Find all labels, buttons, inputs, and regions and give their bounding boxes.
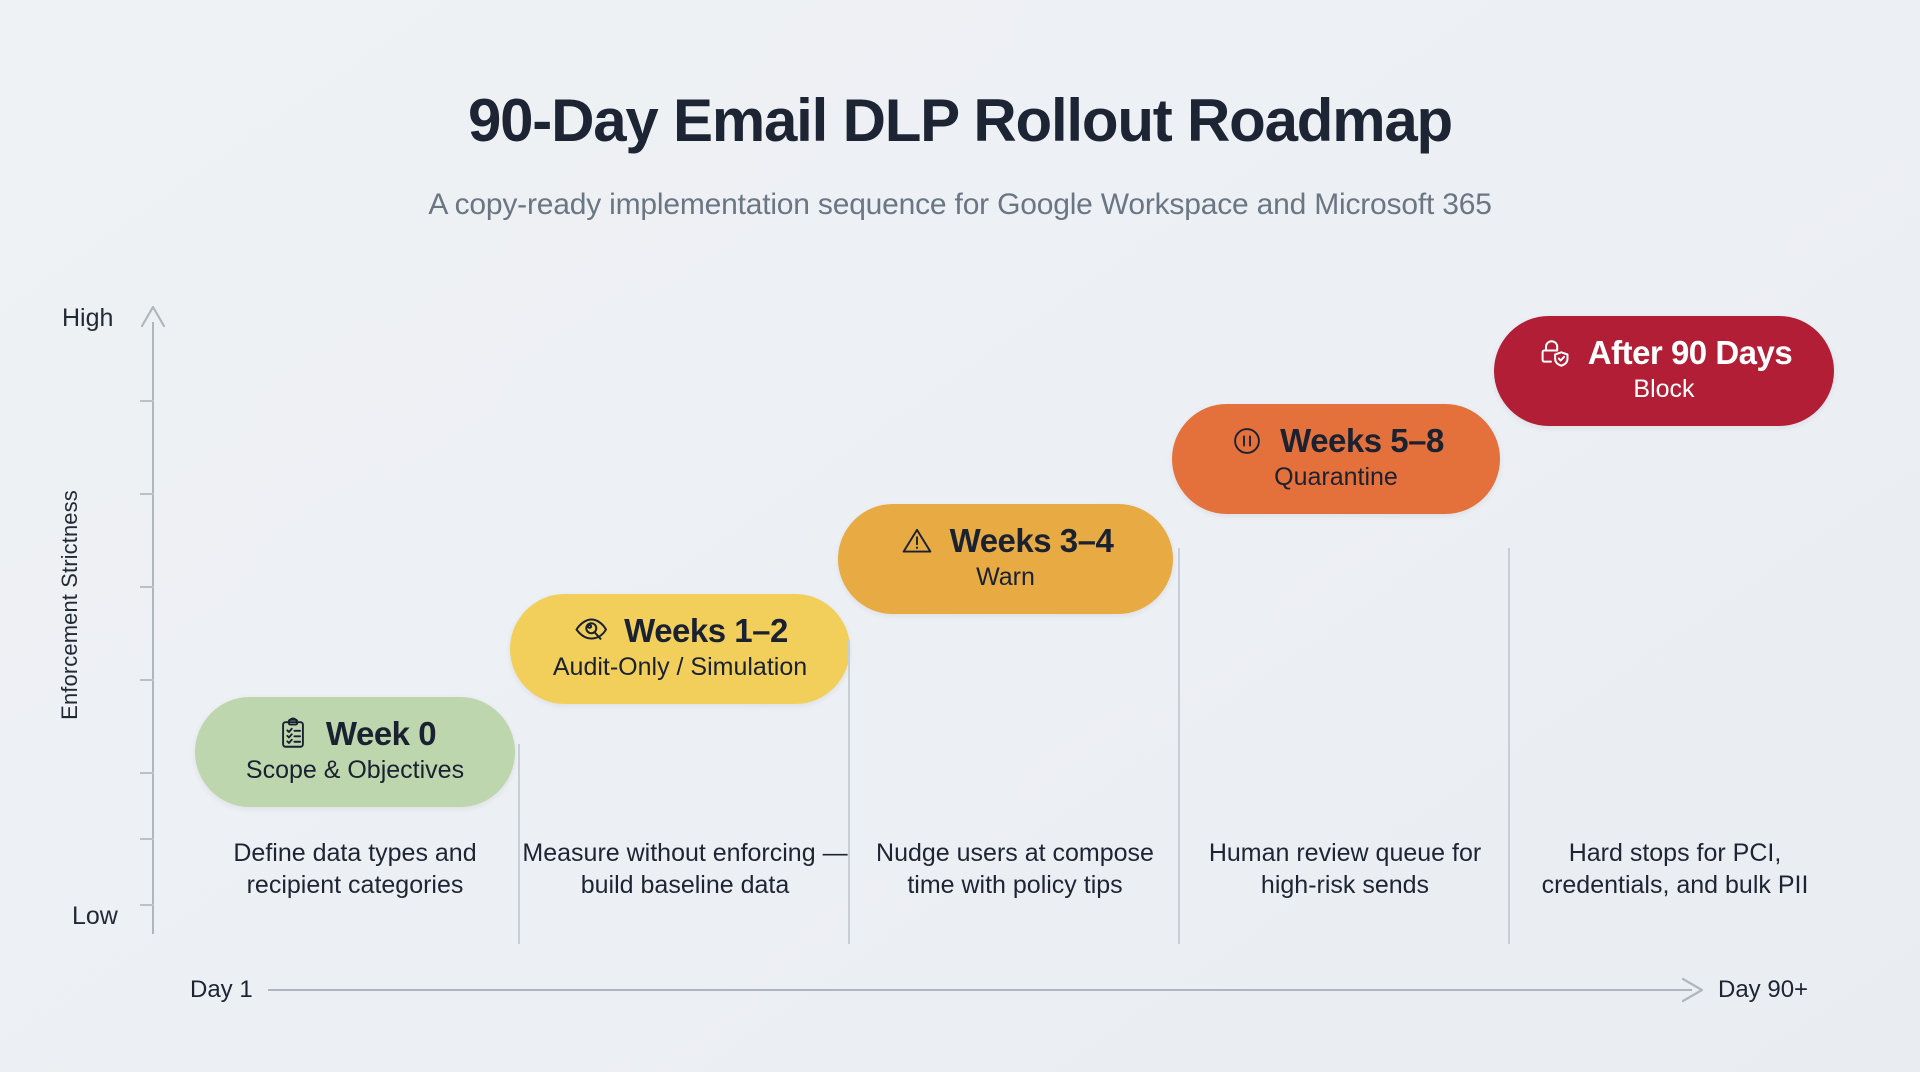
stage-caption-week-0: Define data types and recipient categori… [190, 838, 520, 902]
stage-column-after-90-days: After 90 Days Block Hard stops for PCI, … [1510, 0, 1840, 1072]
clipboard-checklist-icon [274, 715, 312, 753]
y-axis-low-label: Low [72, 902, 118, 931]
stage-caption-weeks-5-8: Human review queue for high-risk sends [1180, 838, 1510, 902]
stage-title: Weeks 5–8 [1280, 422, 1444, 460]
stage-pill-after-90-days[interactable]: After 90 Days Block [1494, 316, 1834, 426]
stage-pill-week-0[interactable]: Week 0 Scope & Objectives [195, 697, 515, 807]
lock-shield-check-icon [1536, 334, 1574, 372]
stage-subtitle: Block [1633, 375, 1694, 404]
pause-circle-icon [1228, 422, 1266, 460]
stage-pill-heading: Weeks 5–8 [1228, 422, 1444, 460]
y-axis-tick [140, 679, 154, 681]
stage-caption-weeks-1-2: Measure without enforcing — build baseli… [520, 838, 850, 902]
stage-pill-heading: Weeks 3–4 [898, 522, 1114, 560]
eye-search-icon [572, 612, 610, 650]
y-axis-arrow-icon [140, 306, 166, 328]
stage-column-weeks-3-4: Weeks 3–4 Warn Nudge users at compose ti… [850, 0, 1180, 1072]
y-axis-line [152, 322, 154, 934]
stage-pill-heading: Weeks 1–2 [572, 612, 788, 650]
stage-pill-weeks-3-4[interactable]: Weeks 3–4 Warn [838, 504, 1173, 614]
stage-title: Weeks 3–4 [950, 522, 1114, 560]
y-axis-tick [140, 838, 154, 840]
stage-caption-weeks-3-4: Nudge users at compose time with policy … [850, 838, 1180, 902]
stage-pill-heading: After 90 Days [1536, 334, 1792, 372]
stage-title: Weeks 1–2 [624, 612, 788, 650]
y-axis-tick [140, 493, 154, 495]
stage-pill-heading: Week 0 [274, 715, 436, 753]
stage-subtitle: Warn [976, 563, 1035, 592]
stage-subtitle: Scope & Objectives [246, 756, 464, 785]
stage-caption-after-90-days: Hard stops for PCI, credentials, and bul… [1510, 838, 1840, 902]
y-axis-high-label: High [62, 304, 113, 333]
y-axis-tick [140, 772, 154, 774]
stage-column-weeks-5-8: Weeks 5–8 Quarantine Human review queue … [1180, 0, 1510, 1072]
stage-pill-weeks-5-8[interactable]: Weeks 5–8 Quarantine [1172, 404, 1500, 514]
stage-subtitle: Quarantine [1274, 463, 1398, 492]
roadmap-infographic: 90-Day Email DLP Rollout Roadmap A copy-… [0, 0, 1920, 1072]
stage-subtitle: Audit-Only / Simulation [553, 653, 807, 682]
stage-column-week-0: Week 0 Scope & Objectives Define data ty… [190, 0, 520, 1072]
stage-column-weeks-1-2: Weeks 1–2 Audit-Only / Simulation Measur… [520, 0, 850, 1072]
warning-triangle-icon [898, 522, 936, 560]
y-axis-tick [140, 400, 154, 402]
stage-title: Week 0 [326, 715, 436, 753]
y-axis-tick [140, 586, 154, 588]
stage-title: After 90 Days [1588, 334, 1792, 372]
y-axis-title: Enforcement Strictness [57, 425, 83, 785]
y-axis-tick [140, 904, 154, 906]
stage-pill-weeks-1-2[interactable]: Weeks 1–2 Audit-Only / Simulation [510, 594, 850, 704]
